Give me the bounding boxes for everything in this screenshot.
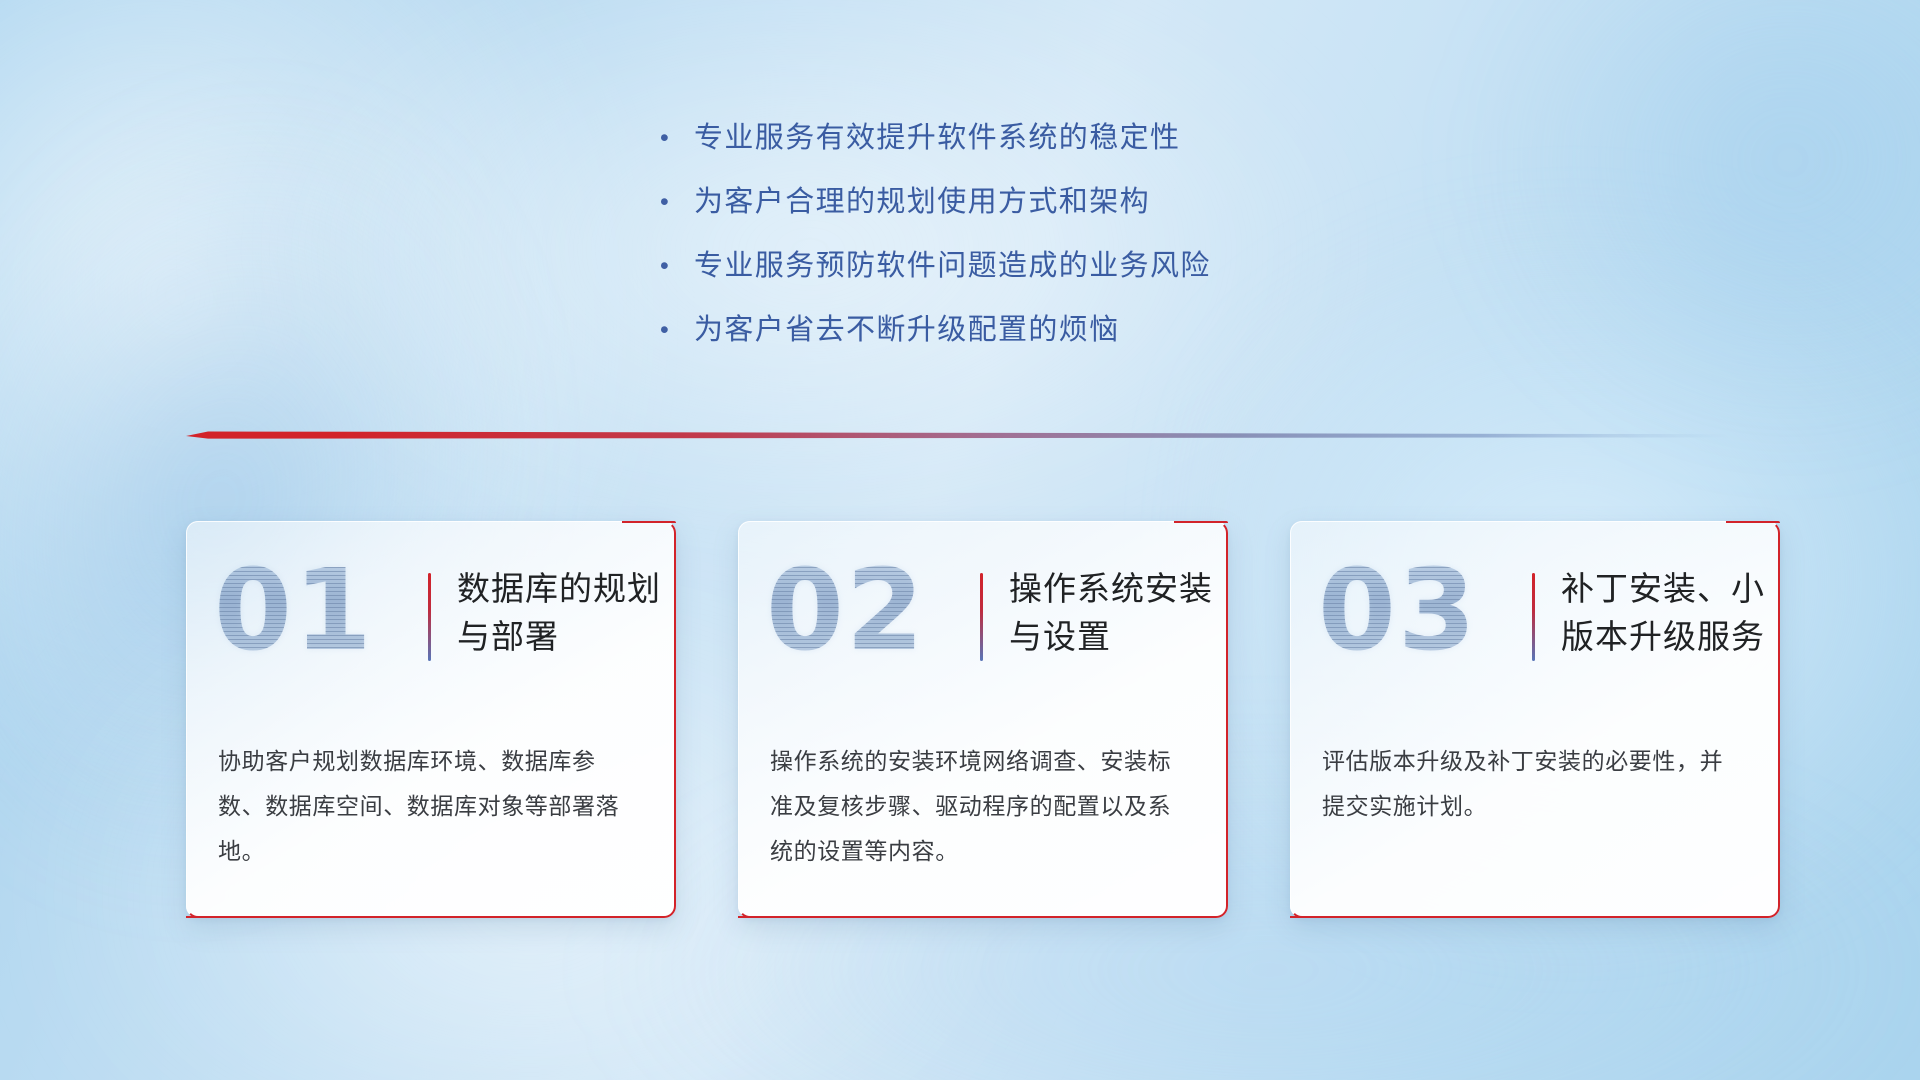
title-accent-rule [428, 573, 431, 661]
title-accent-rule [980, 573, 983, 661]
card-header: 操作系统安装与设置 [980, 565, 1224, 661]
card-title: 数据库的规划与部署 [457, 565, 672, 661]
card-header: 补丁安装、小版本升级服务 [1532, 565, 1776, 661]
bullet-item-text: 为客户省去不断升级配置的烦恼 [694, 298, 1120, 362]
service-card-row: 01 01 数据库的规划与部署 协助客户规划数据库环境、数据库参数、数据库空间、… [186, 521, 1780, 918]
bullet-item-text: 为客户合理的规划使用方式和架构 [694, 170, 1150, 234]
card-title: 补丁安装、小版本升级服务 [1561, 565, 1776, 661]
bullet-dot-icon: • [660, 298, 694, 362]
card-description: 协助客户规划数据库环境、数据库参数、数据库空间、数据库对象等部署落地。 [218, 739, 642, 874]
bullet-list-item: • 为客户合理的规划使用方式和架构 [660, 170, 1400, 234]
service-card[interactable]: 02 02 操作系统安装与设置 操作系统的安装环境网络调查、安装标准及复核步骤、… [738, 521, 1228, 918]
card-title: 操作系统安装与设置 [1009, 565, 1224, 661]
bullet-dot-icon: • [660, 170, 694, 234]
service-card[interactable]: 03 03 补丁安装、小版本升级服务 评估版本升级及补丁安装的必要性，并提交实施… [1290, 521, 1780, 918]
divider-taper-shape [186, 426, 1730, 446]
bullet-dot-icon: • [660, 234, 694, 298]
card-number-watermark: 01 [214, 555, 374, 667]
background-light-wisp [1480, 0, 1920, 440]
benefits-bullet-list: • 专业服务有效提升软件系统的稳定性 • 为客户合理的规划使用方式和架构 • 专… [660, 106, 1400, 362]
card-description: 评估版本升级及补丁安装的必要性，并提交实施计划。 [1322, 739, 1746, 829]
section-divider [186, 426, 1730, 446]
service-card[interactable]: 01 01 数据库的规划与部署 协助客户规划数据库环境、数据库参数、数据库空间、… [186, 521, 676, 918]
card-header: 数据库的规划与部署 [428, 565, 672, 661]
title-accent-rule [1532, 573, 1535, 661]
bullet-item-text: 专业服务预防软件问题造成的业务风险 [694, 234, 1211, 298]
bullet-list-item: • 专业服务有效提升软件系统的稳定性 [660, 106, 1400, 170]
card-number-watermark: 02 [766, 555, 926, 667]
card-description: 操作系统的安装环境网络调查、安装标准及复核步骤、驱动程序的配置以及系统的设置等内… [770, 739, 1194, 874]
bullet-list-item: • 专业服务预防软件问题造成的业务风险 [660, 234, 1400, 298]
bullet-item-text: 专业服务有效提升软件系统的稳定性 [694, 106, 1180, 170]
slide-canvas: • 专业服务有效提升软件系统的稳定性 • 为客户合理的规划使用方式和架构 • 专… [0, 0, 1920, 1080]
card-number-watermark: 03 [1318, 555, 1478, 667]
bullet-list-item: • 为客户省去不断升级配置的烦恼 [660, 298, 1400, 362]
bullet-dot-icon: • [660, 106, 694, 170]
